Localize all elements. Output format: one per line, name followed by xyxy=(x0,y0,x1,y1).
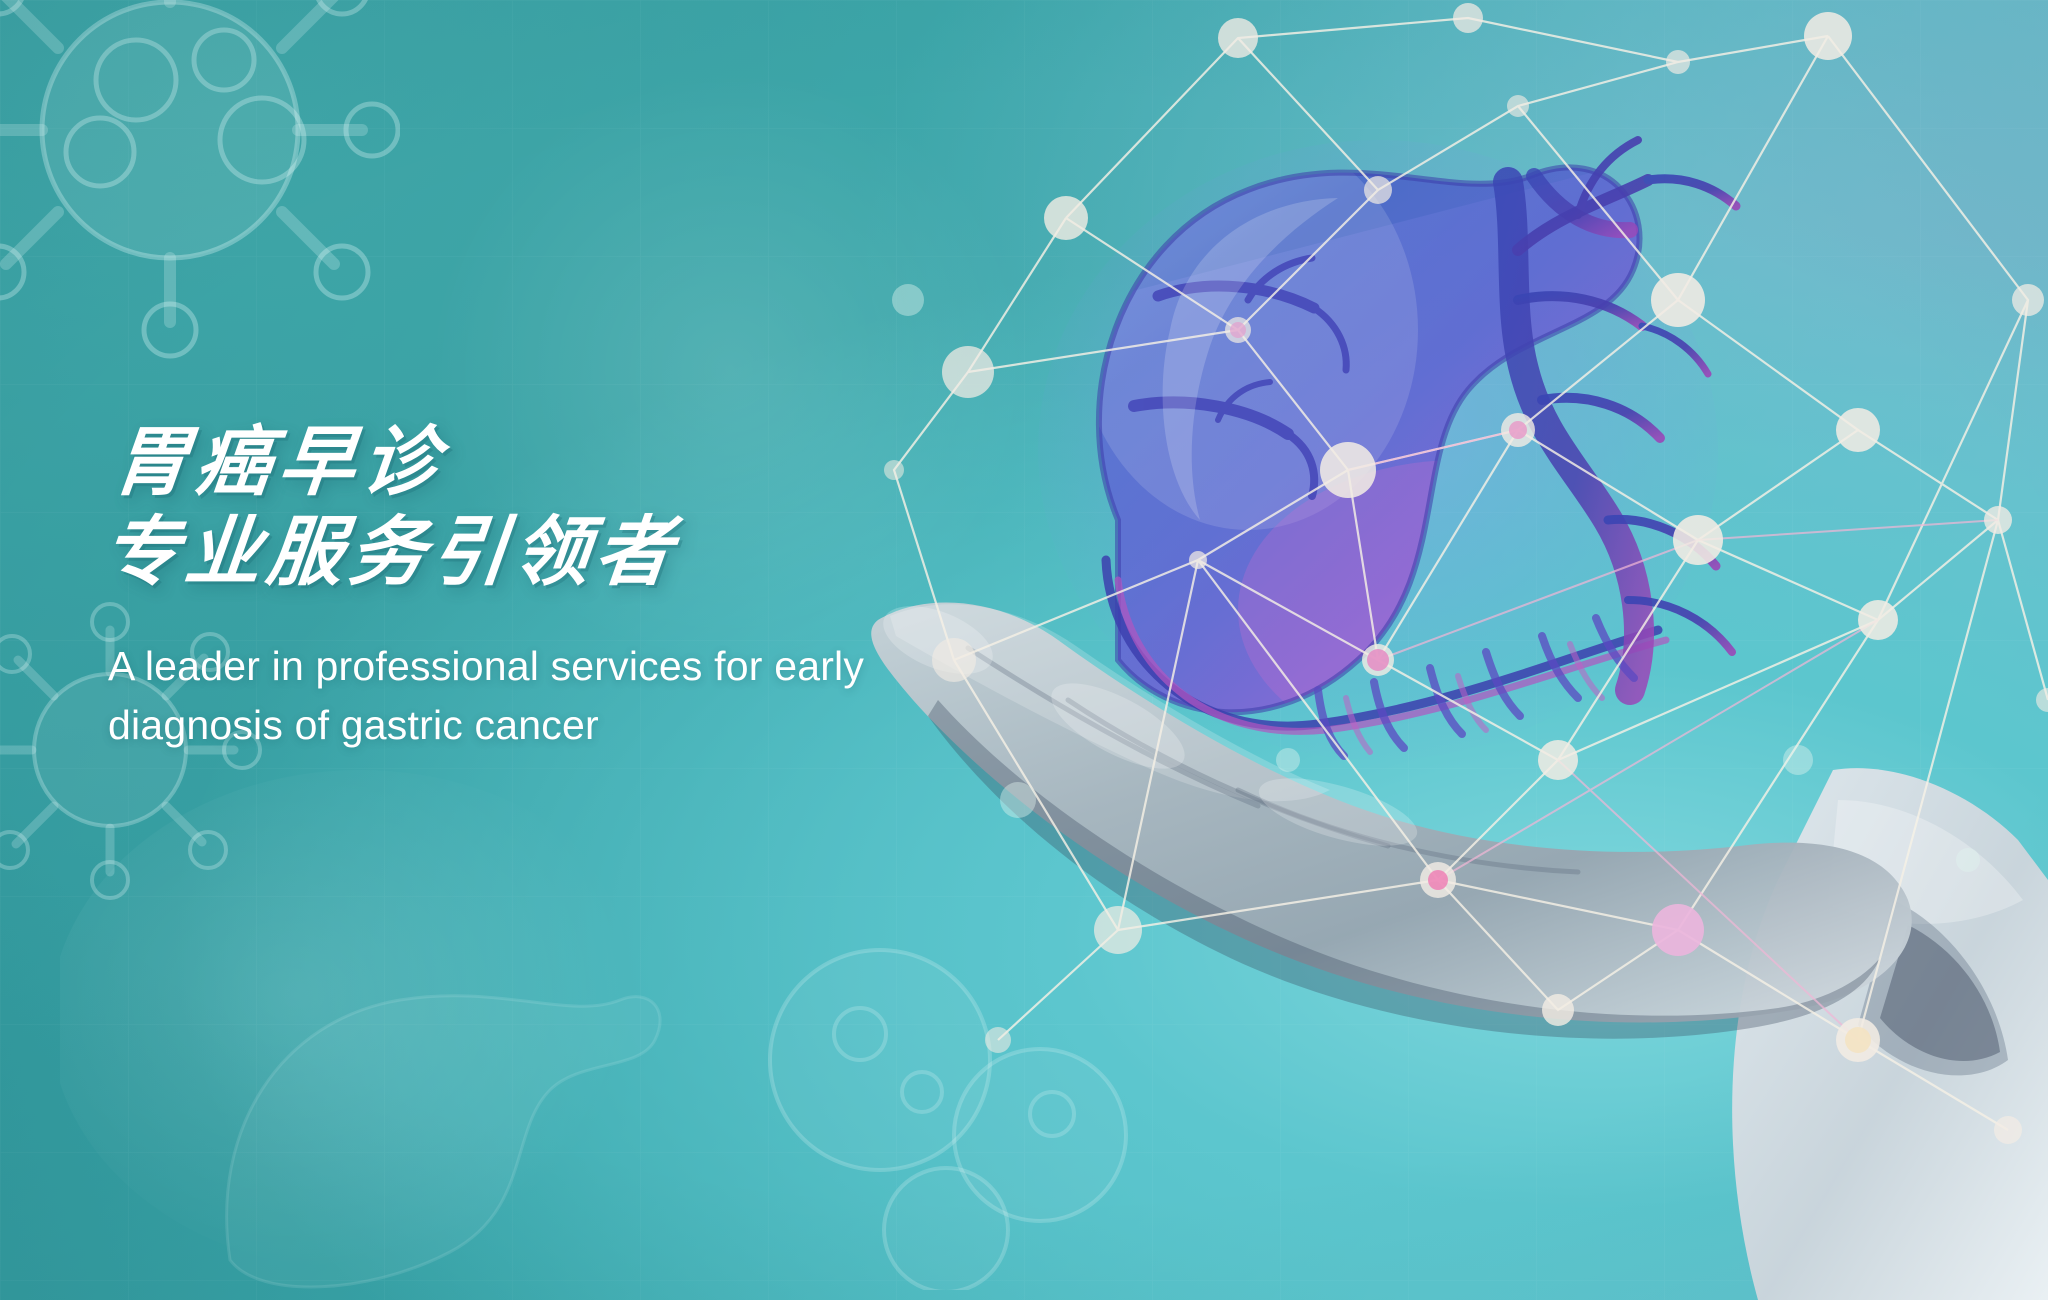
subtitle-line-1: A leader in professional services for ea… xyxy=(108,637,1108,696)
page-subtitle: A leader in professional services for ea… xyxy=(108,637,1108,755)
headline-line-2: 专业服务引领者 xyxy=(99,508,1208,598)
page-title: 胃癌早诊 专业服务引领者 xyxy=(99,418,1218,597)
headline-line-1: 胃癌早诊 xyxy=(108,418,1217,508)
copy-block: 胃癌早诊 专业服务引领者 A leader in professional se… xyxy=(108,418,1208,755)
banner-root: 胃癌早诊 专业服务引领者 A leader in professional se… xyxy=(0,0,2048,1300)
subtitle-line-2: diagnosis of gastric cancer xyxy=(108,696,1108,755)
